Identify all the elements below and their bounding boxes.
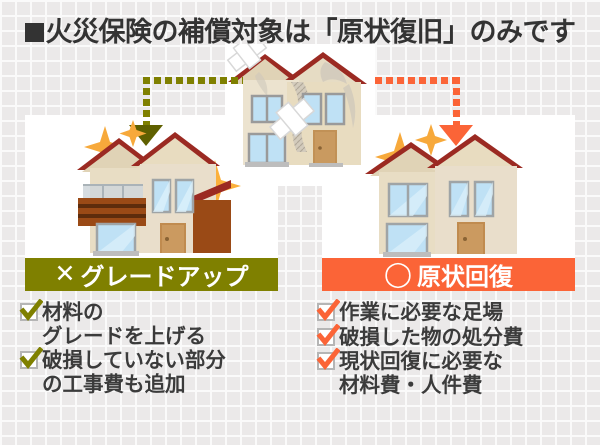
cross-mark-icon: ✕ [55, 262, 76, 287]
list-item: 破損した物の処分費 [317, 326, 587, 350]
banner-grade-up: ✕ グレードアップ [25, 258, 278, 291]
list-item-label: 現状回復に必要な 材料費・人件費 [339, 350, 587, 397]
restored-house-icon [345, 118, 555, 258]
square-bullet-icon [25, 23, 44, 42]
checkbox-checked-icon [317, 328, 335, 346]
list-item: 作業に必要な足場 [317, 301, 587, 325]
list-item-label: 材料の グレードを上げる [42, 301, 290, 348]
checkbox-checked-icon [20, 303, 38, 321]
list-item-label: 破損した物の処分費 [339, 326, 587, 350]
list-grade-up: 材料の グレードを上げる 破損していない部分 の工事費も追加 [20, 301, 290, 397]
checkbox-checked-icon [317, 303, 335, 321]
list-item: 破損していない部分 の工事費も追加 [20, 349, 290, 396]
list-item: 現状回復に必要な 材料費・人件費 [317, 350, 587, 397]
list-item-label: 作業に必要な足場 [339, 301, 587, 325]
checkbox-checked-icon [317, 352, 335, 370]
upgraded-house-icon [45, 118, 270, 258]
list-item: 材料の グレードを上げる [20, 301, 290, 348]
banner-genjo-kaifuku-label: 原状回復 [417, 257, 513, 292]
page-title-text: 火災保険の補償対象は「原状復旧」のみです [46, 17, 576, 47]
circle-mark-icon: ◯ [384, 262, 412, 287]
banner-genjo-kaifuku: ◯ 原状回復 [322, 258, 575, 291]
banner-grade-up-label: グレードアップ [80, 257, 248, 292]
checkbox-checked-icon [20, 351, 38, 369]
list-genjo-kaifuku: 作業に必要な足場 破損した物の処分費 現状回復に必要な 材料費・人件費 [317, 301, 587, 398]
list-item-label: 破損していない部分 の工事費も追加 [42, 349, 290, 396]
